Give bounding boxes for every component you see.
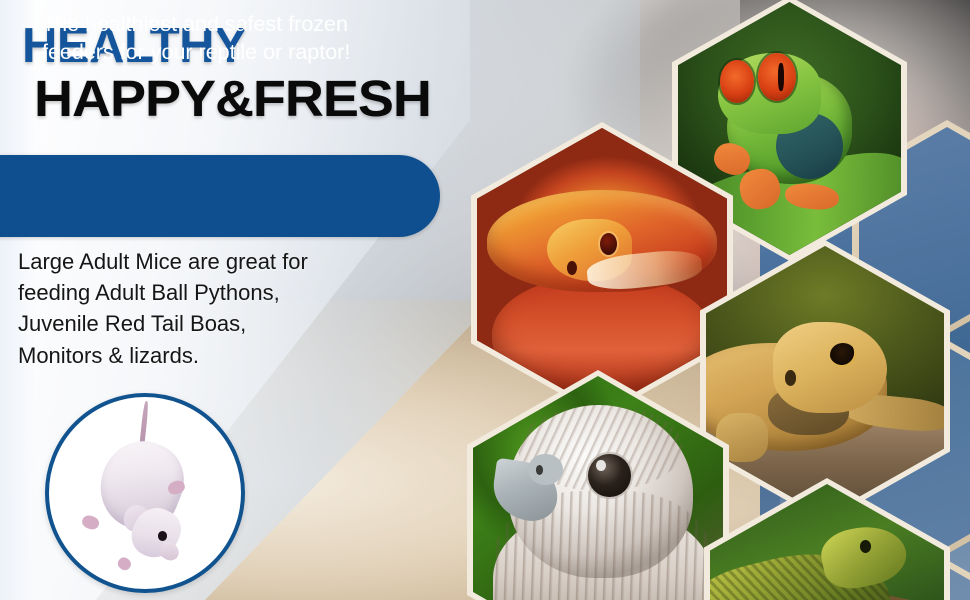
body-copy-line-2: feeding Adult Ball Pythons,: [18, 277, 418, 308]
product-banner: HEALTHY HAPPY&FRESH The healthiest and s…: [0, 0, 970, 600]
body-copy-line-1: Large Adult Mice are great for: [18, 246, 418, 277]
feeder-mouse-image: [49, 397, 241, 589]
body-copy: Large Adult Mice are great for feeding A…: [18, 246, 418, 371]
headline-line-2: HAPPY&FRESH: [34, 74, 519, 124]
product-circle-feeder-mouse: [45, 393, 245, 593]
body-copy-line-4: Monitors & lizards.: [18, 340, 418, 371]
tagline-line-1: The healthiest and safest frozen: [42, 11, 434, 39]
tagline-text: The healthiest and safest frozen feeders…: [42, 11, 434, 66]
tagline-line-2: feeders for your reptile or raptor!: [42, 39, 434, 67]
body-copy-line-3: Juvenile Red Tail Boas,: [18, 308, 418, 339]
tagline-banner: [0, 155, 440, 237]
